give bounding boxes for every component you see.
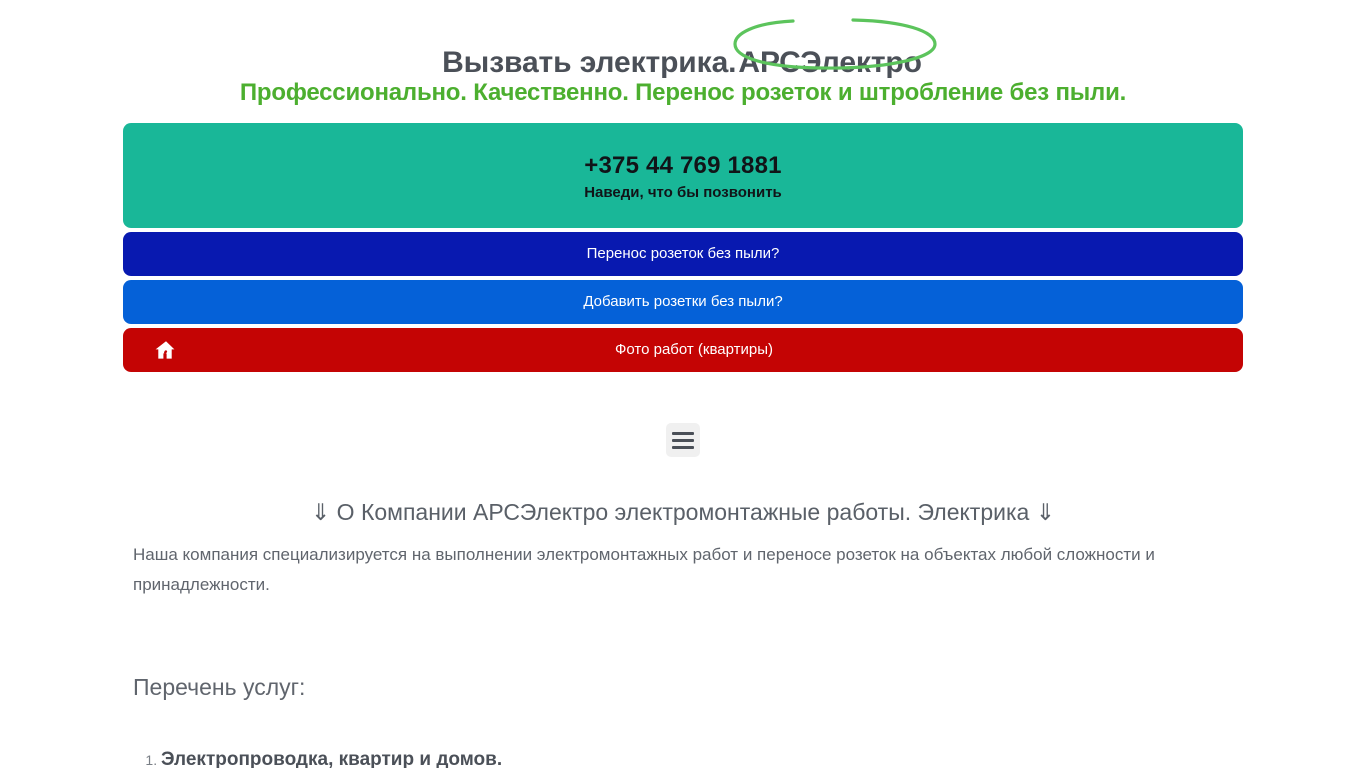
banner-stack: +375 44 769 1881 Наведи, что бы позвонит… — [123, 123, 1243, 376]
page-title-prefix: Вызвать электрика. — [442, 46, 736, 79]
main-content: Наша компания специализируется на выполн… — [133, 540, 1233, 768]
page-subtitle: Профессионально. Качественно. Перенос ро… — [0, 78, 1366, 108]
hamburger-icon-bar-2 — [672, 439, 694, 442]
phone-banner[interactable]: +375 44 769 1881 Наведи, что бы позвонит… — [123, 123, 1243, 228]
hamburger-icon-bar-1 — [672, 432, 694, 435]
nav-button-add-sockets[interactable]: Добавить розетки без пыли? — [123, 280, 1243, 324]
list-item: Электропроводка, квартир и домов. — [161, 745, 1233, 768]
hamburger-menu-button[interactable] — [666, 423, 700, 457]
section-heading-about: ⇓ О Компании АРСЭлектро электромонтажные… — [0, 497, 1366, 527]
about-paragraph: Наша компания специализируется на выполн… — [133, 540, 1223, 600]
home-icon — [154, 338, 178, 362]
page-root: Вызвать электрика.АРСЭлектро Профессиона… — [0, 0, 1366, 768]
menu-toggle-wrap — [0, 423, 1366, 457]
service-item-label: Электропроводка, квартир и домов. — [161, 749, 502, 768]
phone-hint: Наведи, что бы позвонить — [123, 182, 1243, 204]
services-heading: Перечень услуг: — [133, 672, 1233, 702]
nav-button-photo-works-label: Фото работ (квартиры) — [593, 328, 773, 372]
hamburger-icon-bar-3 — [672, 446, 694, 449]
nav-button-photo-works[interactable]: Фото работ (квартиры) — [123, 328, 1243, 372]
services-list: Электропроводка, квартир и домов. — [133, 745, 1233, 768]
nav-button-transfer-sockets[interactable]: Перенос розеток без пыли? — [123, 232, 1243, 276]
phone-number[interactable]: +375 44 769 1881 — [123, 151, 1243, 181]
